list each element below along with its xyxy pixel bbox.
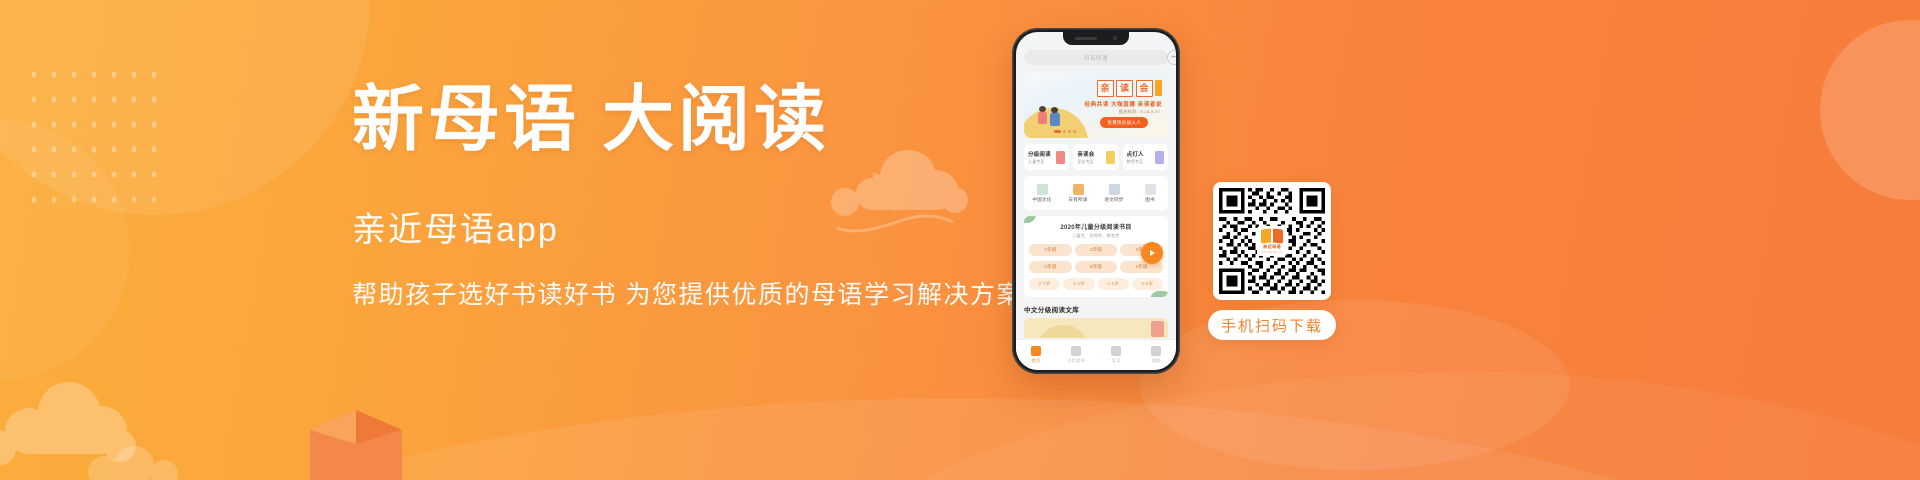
quick-nav-label: 语文同步 bbox=[1104, 197, 1123, 203]
grade-chip-row-2: 4年级 5年级 6年级 bbox=[1029, 261, 1163, 273]
logo-pinyin: QIN JIN MU YU bbox=[1262, 251, 1283, 254]
phone-notch bbox=[1063, 32, 1129, 45]
tab-reading[interactable]: 小步读书 bbox=[1056, 346, 1096, 364]
bookmark-icon bbox=[1155, 151, 1164, 164]
app-promo-banner[interactable]: 亲 读 会 经典共读 大咖直播 亲读者说 报名时间：9.16-9.27 免费快乐… bbox=[1024, 72, 1168, 138]
recite-icon bbox=[1073, 184, 1084, 195]
promo-subtitle: 经典共读 大咖直播 亲读者说 bbox=[1085, 100, 1162, 108]
promo-title-char-3: 会 bbox=[1136, 80, 1153, 97]
tile-title: 亲读会 bbox=[1077, 150, 1094, 158]
app-quick-nav: 中国文化 日有所诵 语文同步 图书 bbox=[1024, 176, 1168, 210]
promo-join-button[interactable]: 免费快乐加入人 bbox=[1100, 117, 1148, 128]
age-chip[interactable]: 3-4岁 bbox=[1063, 278, 1094, 290]
promo-pager[interactable] bbox=[1054, 130, 1076, 133]
decor-phone-glow bbox=[1140, 300, 1570, 470]
qr-center-logo: 亲近母语 QIN JIN MU YU bbox=[1257, 226, 1287, 256]
app-booklist-card: 2020年儿童分级阅读书目 儿童性、经典性、教育性 1年级 2年级 3年级 4年… bbox=[1024, 216, 1168, 297]
open-book-icon bbox=[1261, 229, 1283, 243]
checklist-icon bbox=[1111, 346, 1121, 356]
banner-tagline: 帮助孩子选好书读好书 为您提供优质的母语学习解决方案 bbox=[352, 275, 1052, 311]
decor-circle-top-right bbox=[1820, 20, 1920, 200]
decor-dot-grid bbox=[24, 62, 164, 212]
quick-nav-label: 日有所诵 bbox=[1068, 197, 1087, 203]
quick-nav-label: 图书 bbox=[1145, 197, 1155, 203]
banner-copy: 新母语 大阅读 亲近母语app 帮助孩子选好书读好书 为您提供优质的母语学习解决… bbox=[352, 84, 1052, 311]
decor-cloud-icon-left bbox=[0, 378, 158, 480]
grade-chip[interactable]: 4年级 bbox=[1029, 261, 1072, 273]
category-tile-graded-reading[interactable]: 分级阅读 儿童专区 bbox=[1024, 144, 1069, 170]
sync-icon bbox=[1109, 184, 1120, 195]
app-tabbar: 首页 小步读书 学习 我的 bbox=[1016, 339, 1176, 370]
promo-ribbon-icon bbox=[1155, 80, 1162, 96]
tile-subtitle: 教师专区 bbox=[1127, 159, 1144, 165]
decor-book-box-icon bbox=[310, 404, 402, 480]
tile-title: 分级阅读 bbox=[1028, 150, 1051, 158]
tab-study[interactable]: 学习 bbox=[1096, 346, 1136, 364]
leaf-decor-icon-bottom bbox=[1150, 291, 1168, 297]
bookmark-icon bbox=[1056, 151, 1065, 164]
promo-child-figure-1 bbox=[1038, 111, 1047, 124]
user-icon bbox=[1151, 346, 1161, 356]
tab-label: 我的 bbox=[1152, 358, 1161, 364]
age-chip[interactable]: 0-3岁 bbox=[1029, 278, 1060, 290]
more-options-icon[interactable]: ••• bbox=[1167, 50, 1176, 65]
age-chip-row: 0-3岁 3-4岁 4-5岁 5-6岁 bbox=[1029, 278, 1163, 290]
age-chip[interactable]: 4-5岁 bbox=[1098, 278, 1129, 290]
promo-title-char-2: 读 bbox=[1116, 80, 1133, 97]
decor-cloud-icon-left-small bbox=[78, 438, 188, 480]
grade-chip[interactable]: 2年级 bbox=[1075, 244, 1118, 256]
library-card[interactable] bbox=[1024, 318, 1168, 338]
tab-label: 首页 bbox=[1032, 358, 1041, 364]
decor-circle-top-left bbox=[0, 0, 370, 215]
culture-icon bbox=[1037, 184, 1048, 195]
category-tile-parent-club[interactable]: 亲读会 家长专区 bbox=[1073, 144, 1118, 170]
tab-profile[interactable]: 我的 bbox=[1136, 346, 1176, 364]
play-video-button[interactable] bbox=[1141, 242, 1163, 264]
tab-label: 学习 bbox=[1112, 358, 1121, 364]
phone-mockup: 日有所诵 ••• 亲 读 会 经典共读 大咖直播 亲读者说 报名时间：9.16-… bbox=[1012, 28, 1180, 374]
decor-circle-mid-left bbox=[0, 120, 130, 380]
decor-hill-arc bbox=[0, 398, 1920, 480]
age-chip[interactable]: 5-6岁 bbox=[1132, 278, 1163, 290]
app-search-bar[interactable]: 日有所诵 ••• bbox=[1024, 50, 1168, 65]
promo-detail: 报名时间：9.16-9.27 bbox=[1119, 109, 1160, 115]
page-title: 新母语 大阅读 bbox=[352, 84, 1052, 156]
bookmark-icon bbox=[1106, 151, 1115, 164]
phone-screen: 日有所诵 ••• 亲 读 会 经典共读 大咖直播 亲读者说 报名时间：9.16-… bbox=[1016, 32, 1176, 370]
grade-chip[interactable]: 1年级 bbox=[1029, 244, 1072, 256]
promo-title-char-1: 亲 bbox=[1097, 80, 1114, 97]
download-button-label: 手机扫码下载 bbox=[1221, 315, 1323, 336]
library-section-title: 中文分级阅读文库 bbox=[1024, 304, 1168, 314]
promo-title: 亲 读 会 bbox=[1097, 80, 1163, 97]
promo-child-figure-2 bbox=[1050, 112, 1060, 126]
tile-subtitle: 家长专区 bbox=[1077, 159, 1094, 165]
app-category-tiles: 分级阅读 儿童专区 亲读会 家长专区 点灯人 教师专区 bbox=[1024, 144, 1168, 170]
booklist-subtitle: 儿童性、经典性、教育性 bbox=[1029, 233, 1163, 239]
app-name-subtitle: 亲近母语app bbox=[352, 202, 1052, 251]
logo-name: 亲近母语 bbox=[1263, 244, 1281, 250]
grade-chip[interactable]: 5年级 bbox=[1075, 261, 1118, 273]
library-card-arc bbox=[1038, 325, 1088, 338]
tab-label: 小步读书 bbox=[1067, 358, 1085, 364]
decor-hill-arc-secondary bbox=[760, 372, 1920, 480]
quick-nav-books[interactable]: 图书 bbox=[1132, 184, 1168, 203]
tab-home[interactable]: 首页 bbox=[1016, 346, 1056, 364]
tile-subtitle: 儿童专区 bbox=[1028, 159, 1051, 165]
book-icon bbox=[1145, 184, 1156, 195]
app-search-placeholder: 日有所诵 bbox=[1084, 54, 1108, 62]
quick-nav-label: 中国文化 bbox=[1032, 197, 1051, 203]
library-card-thumb bbox=[1151, 321, 1164, 337]
category-tile-teacher-zone[interactable]: 点灯人 教师专区 bbox=[1123, 144, 1168, 170]
tile-title: 点灯人 bbox=[1127, 150, 1144, 158]
quick-nav-culture[interactable]: 中国文化 bbox=[1024, 184, 1060, 203]
list-icon bbox=[1071, 346, 1081, 356]
qr-section: 亲近母语 QIN JIN MU YU bbox=[1213, 182, 1331, 300]
home-icon bbox=[1031, 346, 1041, 356]
qr-code[interactable]: 亲近母语 QIN JIN MU YU bbox=[1213, 182, 1331, 300]
quick-nav-sync-lesson[interactable]: 语文同步 bbox=[1096, 184, 1132, 203]
download-button[interactable]: 手机扫码下载 bbox=[1208, 310, 1336, 340]
quick-nav-daily-recite[interactable]: 日有所诵 bbox=[1060, 184, 1096, 203]
play-icon bbox=[1150, 250, 1155, 256]
promo-banner: 新母语 大阅读 亲近母语app 帮助孩子选好书读好书 为您提供优质的母语学习解决… bbox=[0, 0, 1920, 480]
booklist-title: 2020年儿童分级阅读书目 bbox=[1029, 222, 1163, 231]
